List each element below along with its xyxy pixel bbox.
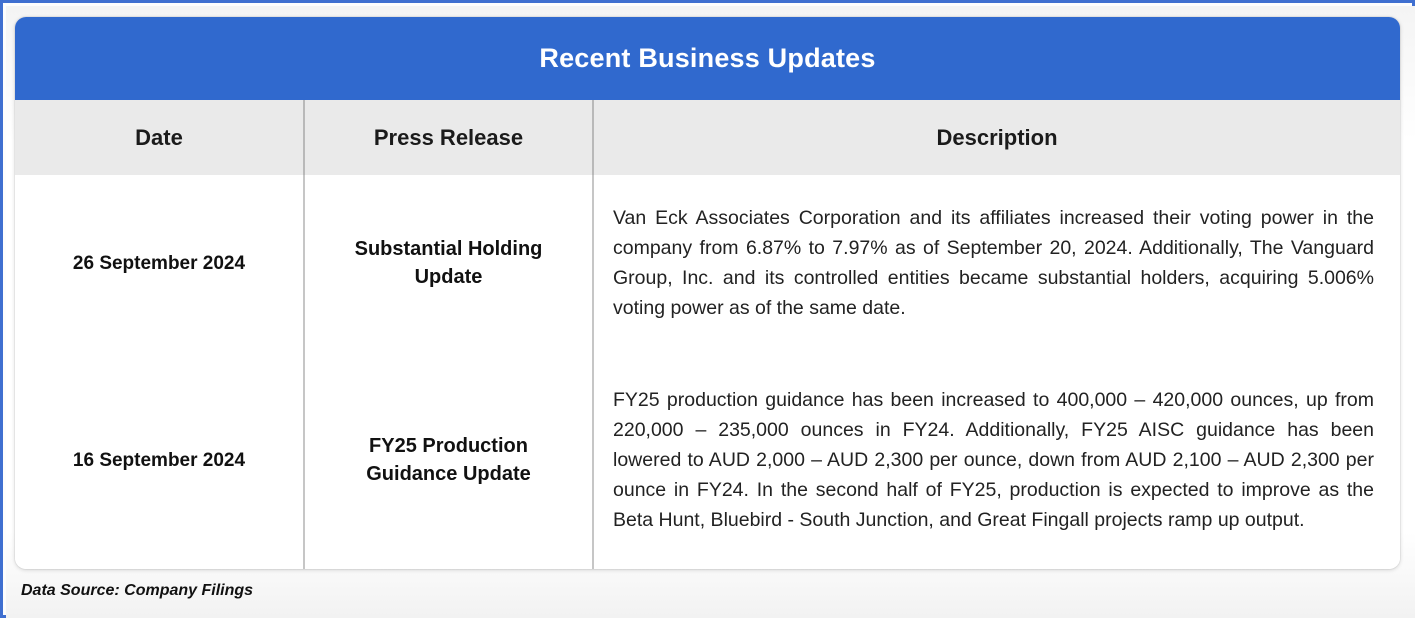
- cell-date: 16 September 2024: [15, 353, 303, 569]
- cell-description: Van Eck Associates Corporation and its a…: [592, 175, 1400, 353]
- column-header-date-label: Date: [135, 125, 183, 151]
- cell-description-text: FY25 production guidance has been increa…: [613, 386, 1374, 535]
- content-area: Recent Business Updates Date Press Relea…: [6, 6, 1415, 618]
- column-header-press-release-label: Press Release: [374, 125, 523, 151]
- cell-press-release: FY25 Production Guidance Update: [303, 353, 592, 569]
- table-body: 26 September 2024 Substantial Holding Up…: [15, 175, 1400, 569]
- column-header-description-label: Description: [936, 125, 1057, 151]
- table-row: 16 September 2024 FY25 Production Guidan…: [15, 353, 1400, 569]
- cell-press-release: Substantial Holding Update: [303, 175, 592, 353]
- table-column-header-row: Date Press Release Description: [15, 100, 1400, 175]
- cell-description: FY25 production guidance has been increa…: [592, 353, 1400, 569]
- page-frame: Recent Business Updates Date Press Relea…: [0, 0, 1415, 618]
- column-header-description: Description: [592, 100, 1400, 175]
- business-updates-card: Recent Business Updates Date Press Relea…: [15, 17, 1400, 569]
- column-header-press-release: Press Release: [303, 100, 592, 175]
- data-source-note: Data Source: Company Filings: [21, 582, 253, 600]
- column-header-date: Date: [15, 100, 303, 175]
- table-row: 26 September 2024 Substantial Holding Up…: [15, 175, 1400, 353]
- card-title-bar: Recent Business Updates: [15, 17, 1400, 100]
- cell-date: 26 September 2024: [15, 175, 303, 353]
- cell-description-text: Van Eck Associates Corporation and its a…: [613, 204, 1374, 323]
- page-title: Recent Business Updates: [539, 43, 875, 74]
